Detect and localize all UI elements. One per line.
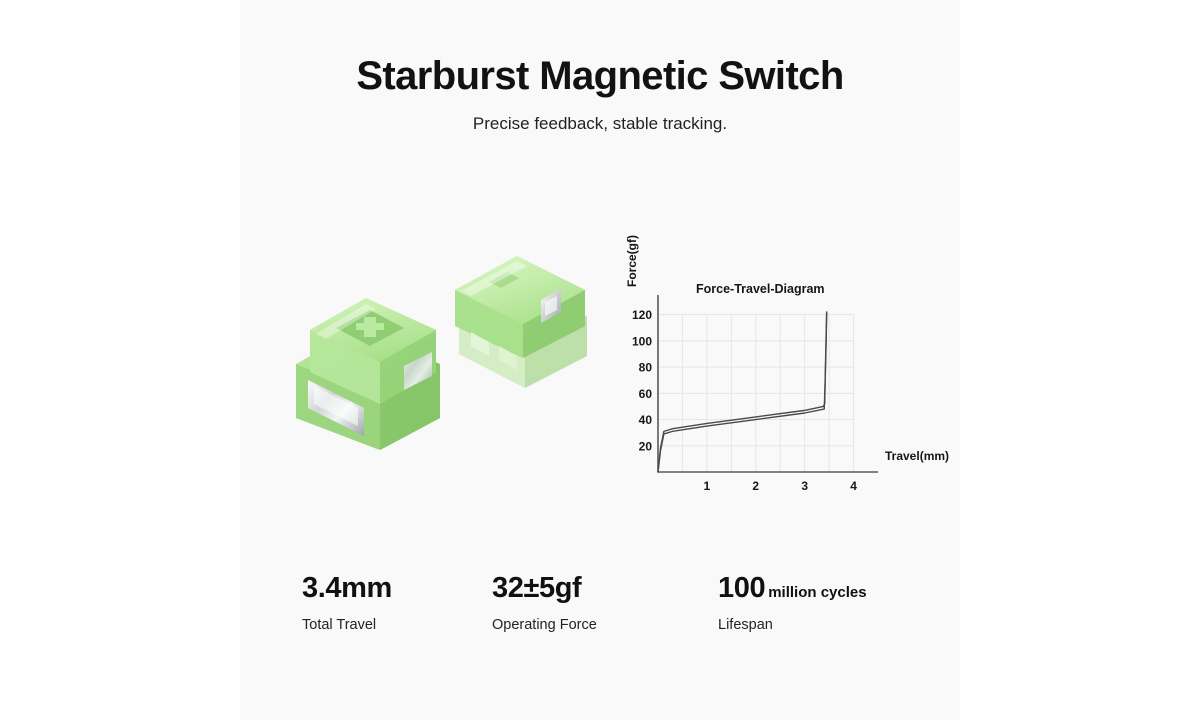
stat-suffix: million cycles (768, 584, 866, 601)
switch-photo-top-angle (445, 238, 605, 408)
stat-lifespan: 100million cycles Lifespan (718, 570, 867, 633)
force-curve-release (658, 312, 827, 472)
y-tick-label: 80 (639, 361, 653, 375)
y-axis-title: Force(gf) (625, 235, 639, 287)
y-tick-label: 60 (639, 387, 653, 401)
switch-photo-front-angle (280, 268, 470, 453)
force-travel-chart: 20406080100120 1234 Force(gf) Travel(mm)… (610, 215, 955, 500)
y-tick-label: 120 (632, 308, 652, 322)
x-tick-label: 2 (752, 479, 759, 493)
page-subtitle: Precise feedback, stable tracking. (240, 114, 960, 134)
x-tick-label: 1 (704, 479, 711, 493)
product-feature-graphic: Starburst Magnetic Switch Precise feedba… (0, 0, 1200, 720)
stat-total-travel: 3.4mm Total Travel (302, 570, 395, 633)
y-tick-label: 20 (639, 439, 653, 453)
y-tick-label: 100 (632, 334, 652, 348)
stat-operating-force: 32±5gf Operating Force (492, 570, 597, 633)
x-tick-label: 4 (850, 479, 857, 493)
x-tick-label: 3 (801, 479, 808, 493)
x-axis-title: Travel(mm) (885, 449, 949, 463)
spec-stats-row: 3.4mm Total Travel 32±5gf Operating Forc… (240, 570, 960, 660)
y-tick-label: 40 (639, 413, 653, 427)
stat-value: 3.4mm (302, 570, 395, 606)
stat-label: Operating Force (492, 617, 597, 633)
stat-number: 3.4mm (302, 572, 392, 604)
stat-number: 32±5gf (492, 572, 581, 604)
page-title: Starburst Magnetic Switch (240, 54, 960, 98)
stat-number: 100 (718, 572, 765, 604)
x-axis-tick-labels: 1234 (704, 479, 858, 493)
force-curve-press (658, 312, 827, 472)
chart-title: Force-Travel-Diagram (696, 282, 825, 296)
stat-value: 32±5gf (492, 570, 597, 606)
content-panel: Starburst Magnetic Switch Precise feedba… (240, 0, 960, 720)
stat-label: Total Travel (302, 617, 395, 633)
stat-value: 100million cycles (718, 570, 867, 606)
stat-label: Lifespan (718, 617, 867, 633)
y-axis-tick-labels: 20406080100120 (632, 308, 652, 453)
